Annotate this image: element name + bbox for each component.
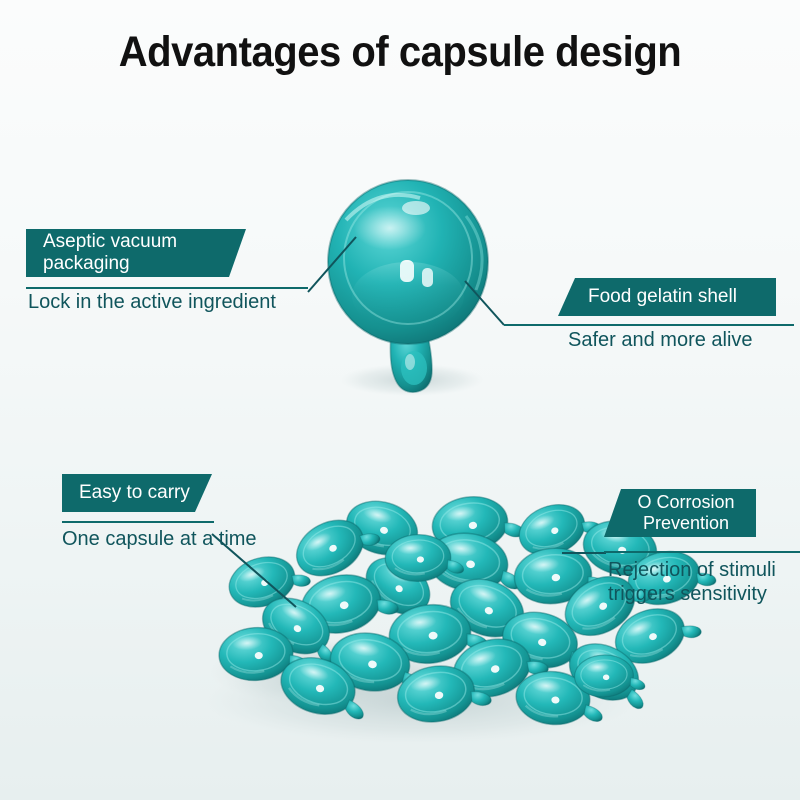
page-title: Advantages of capsule design	[28, 28, 772, 77]
capsule-artwork	[0, 0, 800, 800]
tag-easy-to-carry[interactable]: Easy to carry	[62, 474, 212, 512]
infographic-canvas: Advantages of capsule design Aseptic vac…	[0, 0, 800, 800]
tag-label: Food gelatin shell	[588, 286, 737, 308]
tag-label: Aseptic vacuum packaging	[43, 231, 177, 276]
caption-corrosion: Rejection of stimuli triggers sensitivit…	[608, 558, 800, 606]
tag-aseptic-vacuum-packaging[interactable]: Aseptic vacuum packaging	[26, 229, 246, 277]
rule-aseptic	[26, 287, 308, 289]
tag-corrosion-prevention[interactable]: O Corrosion Prevention	[604, 489, 756, 537]
hero-capsule	[328, 180, 488, 396]
caption-gelatin: Safer and more alive	[568, 328, 800, 352]
rule-gelatin	[504, 324, 794, 326]
tag-food-gelatin-shell[interactable]: Food gelatin shell	[558, 278, 776, 316]
rule-easy-carry	[62, 521, 214, 523]
caption-aseptic: Lock in the active ingredient	[28, 290, 328, 314]
caption-easy-carry: One capsule at a time	[62, 527, 322, 551]
rule-corrosion	[604, 551, 800, 553]
tag-label: Easy to carry	[79, 482, 190, 504]
tag-label: O Corrosion Prevention	[618, 492, 754, 534]
